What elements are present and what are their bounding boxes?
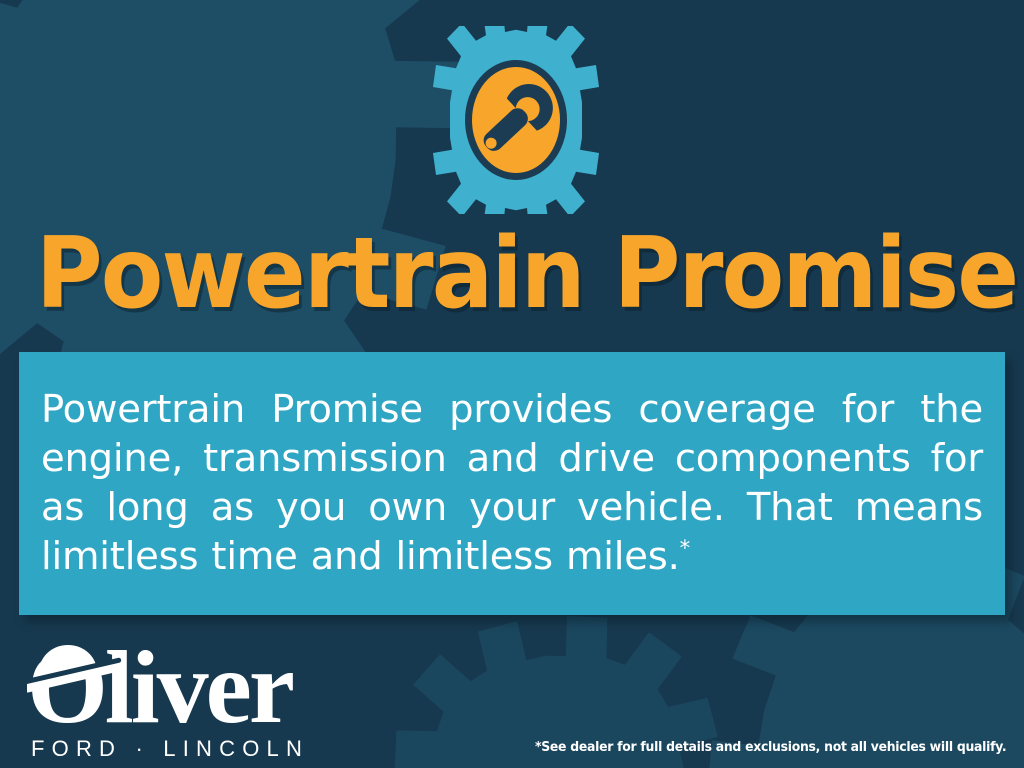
coverage-description-text: Powertrain Promise provides coverage for… (41, 385, 983, 581)
footnote-marker: * (680, 535, 690, 560)
coverage-description-sentence: Powertrain Promise provides coverage for… (41, 387, 983, 579)
page-title: Powertrain Promise (36, 222, 988, 326)
oliver-ford-lincoln-logo: Oliver FORD · LINCOLN (27, 638, 327, 760)
powertrain-promise-poster: Powertrain Promise Powertrain Promise pr… (0, 0, 1024, 768)
coverage-description-panel: Powertrain Promise provides coverage for… (19, 352, 1005, 615)
gear-wrench-icon (431, 26, 601, 214)
disclaimer-text: *See dealer for full details and exclusi… (535, 738, 1006, 756)
logo-subtitle-text: FORD · LINCOLN (31, 736, 309, 760)
